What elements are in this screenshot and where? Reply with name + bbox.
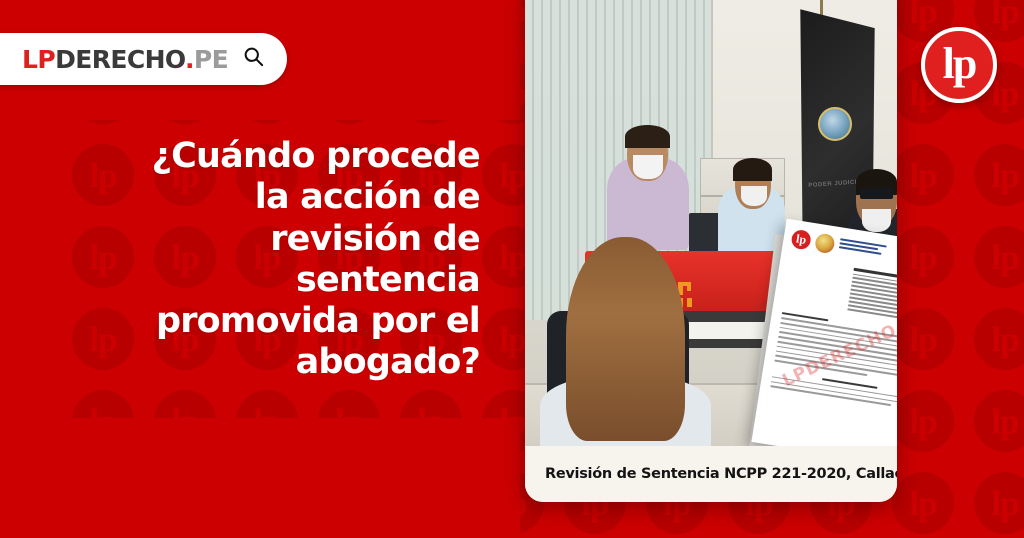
document-judicial-seal-icon	[814, 233, 836, 255]
photo-flag-emblem-icon	[818, 107, 852, 141]
photo-person-judge-mask	[633, 155, 663, 178]
document-header-lines	[838, 236, 893, 258]
watermark-lp-icon: lp	[892, 226, 954, 288]
headline: ¿Cuándo procede la acción de revisión de…	[96, 136, 480, 384]
watermark-lp-icon: lp	[974, 472, 1024, 534]
document-summary-block	[848, 268, 897, 325]
headline-line-2: la acción de	[96, 177, 480, 218]
search-icon[interactable]	[242, 45, 265, 73]
wordmark-derecho: DERECHO	[55, 45, 185, 74]
photo-person-clerk-hair	[733, 158, 772, 181]
brand-logo-pill[interactable]: LPDERECHO.PE	[0, 33, 287, 85]
headline-line-4: sentencia	[96, 260, 480, 301]
headline-line-1: ¿Cuándo procede	[96, 136, 480, 177]
card-caption-text: Revisión de Sentencia NCPP 221-2020, Cal…	[545, 466, 897, 482]
document-lp-logo-icon: lp	[790, 229, 812, 251]
watermark-lp-icon: lp	[892, 390, 954, 452]
photo-person-lawyer-glasses-icon	[860, 188, 893, 200]
background-flat-bottom	[0, 418, 520, 538]
graphic-canvas: lplplplplplplplplplplplplplplplplplplplp…	[0, 0, 1024, 538]
wordmark-pe: PE	[194, 45, 228, 74]
watermark-lp-icon: lp	[892, 144, 954, 206]
wordmark-lp: LP	[22, 45, 55, 74]
lp-badge-icon: lp	[921, 27, 997, 103]
wordmark-dot: .	[185, 45, 194, 74]
photo-person-clerk-mask	[741, 186, 767, 207]
courtroom-photo: PODER JUDICIAL	[525, 0, 897, 450]
document-body-text	[770, 312, 897, 411]
photo-person-judge-hair	[625, 125, 670, 148]
photo-person-lawyer-mask	[862, 209, 892, 232]
document-header-lines-right	[896, 245, 897, 267]
headline-line-3: revisión de	[96, 219, 480, 260]
watermark-lp-icon: lp	[974, 308, 1024, 370]
brand-wordmark: LPDERECHO.PE	[22, 47, 228, 72]
headline-line-5: promovida por el	[96, 301, 480, 342]
watermark-lp-icon: lp	[974, 390, 1024, 452]
card-caption-bar: Revisión de Sentencia NCPP 221-2020, Cal…	[525, 446, 897, 502]
photo-person-front-hair	[566, 237, 685, 441]
watermark-lp-icon: lp	[974, 144, 1024, 206]
photo-card: PODER JUDICIAL	[525, 0, 897, 502]
headline-line-6: abogado?	[96, 342, 480, 383]
lp-badge-mark: lp	[943, 46, 976, 81]
watermark-lp-icon: lp	[974, 226, 1024, 288]
watermark-lp-icon: lp	[892, 472, 954, 534]
watermark-lp-icon: lp	[892, 308, 954, 370]
